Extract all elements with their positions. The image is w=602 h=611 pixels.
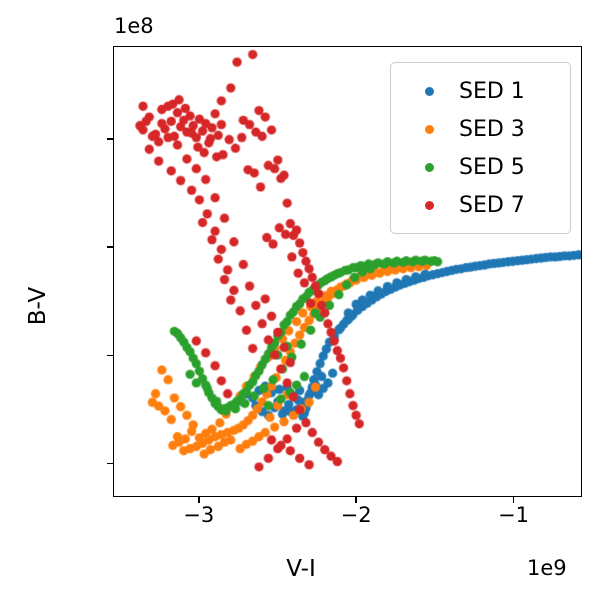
y-tick-mark xyxy=(107,138,113,140)
x-tick-label: −2 xyxy=(341,503,372,527)
x-axis-title: V-I xyxy=(0,556,602,582)
legend-marker-icon xyxy=(425,125,434,134)
x-tick-label: −3 xyxy=(183,503,214,527)
legend-marker-icon xyxy=(425,201,434,210)
y-axis-title: B-V xyxy=(25,226,51,386)
legend-label: SED 3 xyxy=(457,117,525,142)
legend-swatch-wrap xyxy=(401,125,457,134)
y-tick-mark xyxy=(107,463,113,465)
legend-swatch-wrap xyxy=(401,201,457,210)
legend-marker-icon xyxy=(425,163,434,172)
y-tick-mark xyxy=(107,355,113,357)
y-tick-mark xyxy=(107,246,113,248)
legend-item-sed-7[interactable]: SED 7 xyxy=(401,186,558,224)
y-axis-offset-text: 1e8 xyxy=(114,14,154,38)
legend-label: SED 7 xyxy=(457,193,525,218)
legend-label: SED 1 xyxy=(457,79,525,104)
legend-swatch-wrap xyxy=(401,163,457,172)
scatter-figure: 1e8 −3−2−1 20−2−4 1e9 V-I B-V SED 1SED 3… xyxy=(0,0,602,611)
legend-label: SED 5 xyxy=(457,155,525,180)
legend-marker-icon xyxy=(425,87,434,96)
x-tick-label: −1 xyxy=(498,503,529,527)
legend-item-sed-3[interactable]: SED 3 xyxy=(401,110,558,148)
legend-swatch-wrap xyxy=(401,87,457,96)
legend-item-sed-1[interactable]: SED 1 xyxy=(401,72,558,110)
legend[interactable]: SED 1SED 3SED 5SED 7 xyxy=(390,62,571,234)
legend-item-sed-5[interactable]: SED 5 xyxy=(401,148,558,186)
